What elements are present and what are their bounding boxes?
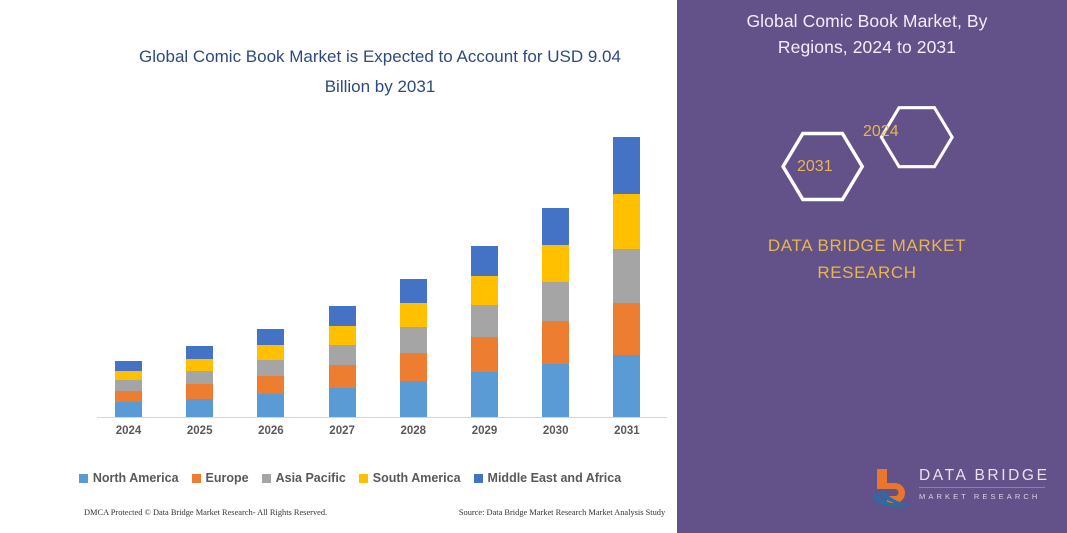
bar-segment [115,402,142,417]
bar-segment [186,371,213,384]
panel-title-line-2: Regions, 2024 to 2031 [667,34,1067,60]
brand-name: DATA BRIDGE MARKET RESEARCH [667,232,1067,286]
bar-segment [613,137,640,194]
infographic-root: Global Comic Book Market is Expected to … [0,0,1067,533]
bar-2030 [542,208,569,417]
x-axis-label-2024: 2024 [99,425,159,437]
x-axis-label-2026: 2026 [241,425,301,437]
x-axis-line [97,417,681,418]
chart-title-line-1: Global Comic Book Market is Expected to … [60,42,700,72]
bar-segment [542,364,569,417]
bar-segment [542,282,569,321]
bar-segment [400,381,427,417]
bar-segment [257,329,284,344]
x-axis-label-2027: 2027 [312,425,372,437]
bar-segment [329,345,356,366]
bar-segment [186,346,213,358]
bar-2031 [613,137,640,417]
brand-line-2: RESEARCH [667,259,1067,286]
bar-segment [257,376,284,394]
bar-segment [542,208,569,245]
chart-area: Global Comic Book Market is Expected to … [0,0,700,533]
x-axis-label-2028: 2028 [383,425,443,437]
legend-swatch-icon [262,474,271,483]
legend-label: South America [373,471,461,485]
bar-2028 [400,279,427,417]
bar-segment [115,380,142,390]
brand-panel: Global Comic Book Market, By Regions, 20… [667,0,1067,533]
chart-title-line-2: Billion by 2031 [60,72,700,102]
bar-segment [400,327,427,353]
bar-segment [471,337,498,372]
legend-swatch-icon [192,474,201,483]
bar-segment [329,365,356,388]
legend-label: Middle East and Africa [488,471,622,485]
bar-segment [115,371,142,380]
bar-2025 [186,346,213,417]
hexagon-end-year-label: 2031 [797,158,833,176]
logo-sub-text: MARKET RESEARCH [919,492,1050,501]
bar-segment [471,305,498,337]
bar-segment [613,355,640,417]
bar-segment [613,303,640,355]
legend-item[interactable]: Middle East and Africa [474,471,622,485]
x-axis-label-2025: 2025 [170,425,230,437]
hexagon-outlines [667,95,1067,210]
bar-segment [400,303,427,327]
x-axis-label-2029: 2029 [455,425,515,437]
panel-title: Global Comic Book Market, By Regions, 20… [667,8,1067,60]
footer: DMCA Protected © Data Bridge Market Rese… [84,508,684,517]
x-axis-label-2030: 2030 [526,425,586,437]
bar-segment [329,388,356,417]
bar-2027 [329,306,356,417]
legend-item[interactable]: Asia Pacific [262,471,346,485]
bar-segment [400,353,427,381]
bar-segment [329,306,356,325]
bar-segment [471,246,498,276]
bar-segment [613,249,640,303]
logo-main-text: DATA BRIDGE [919,467,1050,485]
footer-source: Source: Data Bridge Market Research Mark… [459,508,684,517]
bar-segment [542,321,569,364]
legend-item[interactable]: North America [79,471,179,485]
bar-segment [186,359,213,371]
bar-segment [186,384,213,399]
bar-segment [115,391,142,403]
bar-2024 [115,361,142,417]
bar-segment [115,361,142,370]
bar-segment [186,399,213,417]
legend-label: Asia Pacific [276,471,346,485]
bar-segment [257,360,284,377]
legend-item[interactable]: South America [359,471,461,485]
footer-copyright: DMCA Protected © Data Bridge Market Rese… [84,508,327,517]
bar-segment [257,345,284,360]
brand-line-1: DATA BRIDGE MARKET [667,232,1067,259]
bar-segment [400,279,427,303]
bar-segment [257,394,284,417]
bar-segment [613,194,640,249]
logo-divider [919,487,1045,488]
bar-2029 [471,246,498,417]
bar-segment [471,372,498,416]
hexagon-start-year-label: 2024 [863,123,899,141]
panel-title-line-1: Global Comic Book Market, By [667,8,1067,34]
chart-legend: North AmericaEuropeAsia PacificSouth Ame… [0,471,700,485]
legend-swatch-icon [474,474,483,483]
logo-mark-icon [871,465,915,509]
x-axis-label-2031: 2031 [597,425,657,437]
legend-swatch-icon [79,474,88,483]
bar-segment [329,326,356,345]
bar-segment [542,245,569,282]
company-logo: DATA BRIDGE MARKET RESEARCH [871,465,1051,513]
legend-swatch-icon [359,474,368,483]
chart-title: Global Comic Book Market is Expected to … [60,42,700,102]
legend-item[interactable]: Europe [192,471,249,485]
bar-2026 [257,329,284,417]
bar-segment [471,276,498,306]
legend-label: North America [93,471,179,485]
logo-text: DATA BRIDGE MARKET RESEARCH [919,467,1050,501]
hexagon-group: 2031 2024 [667,95,1067,210]
legend-label: Europe [206,471,249,485]
